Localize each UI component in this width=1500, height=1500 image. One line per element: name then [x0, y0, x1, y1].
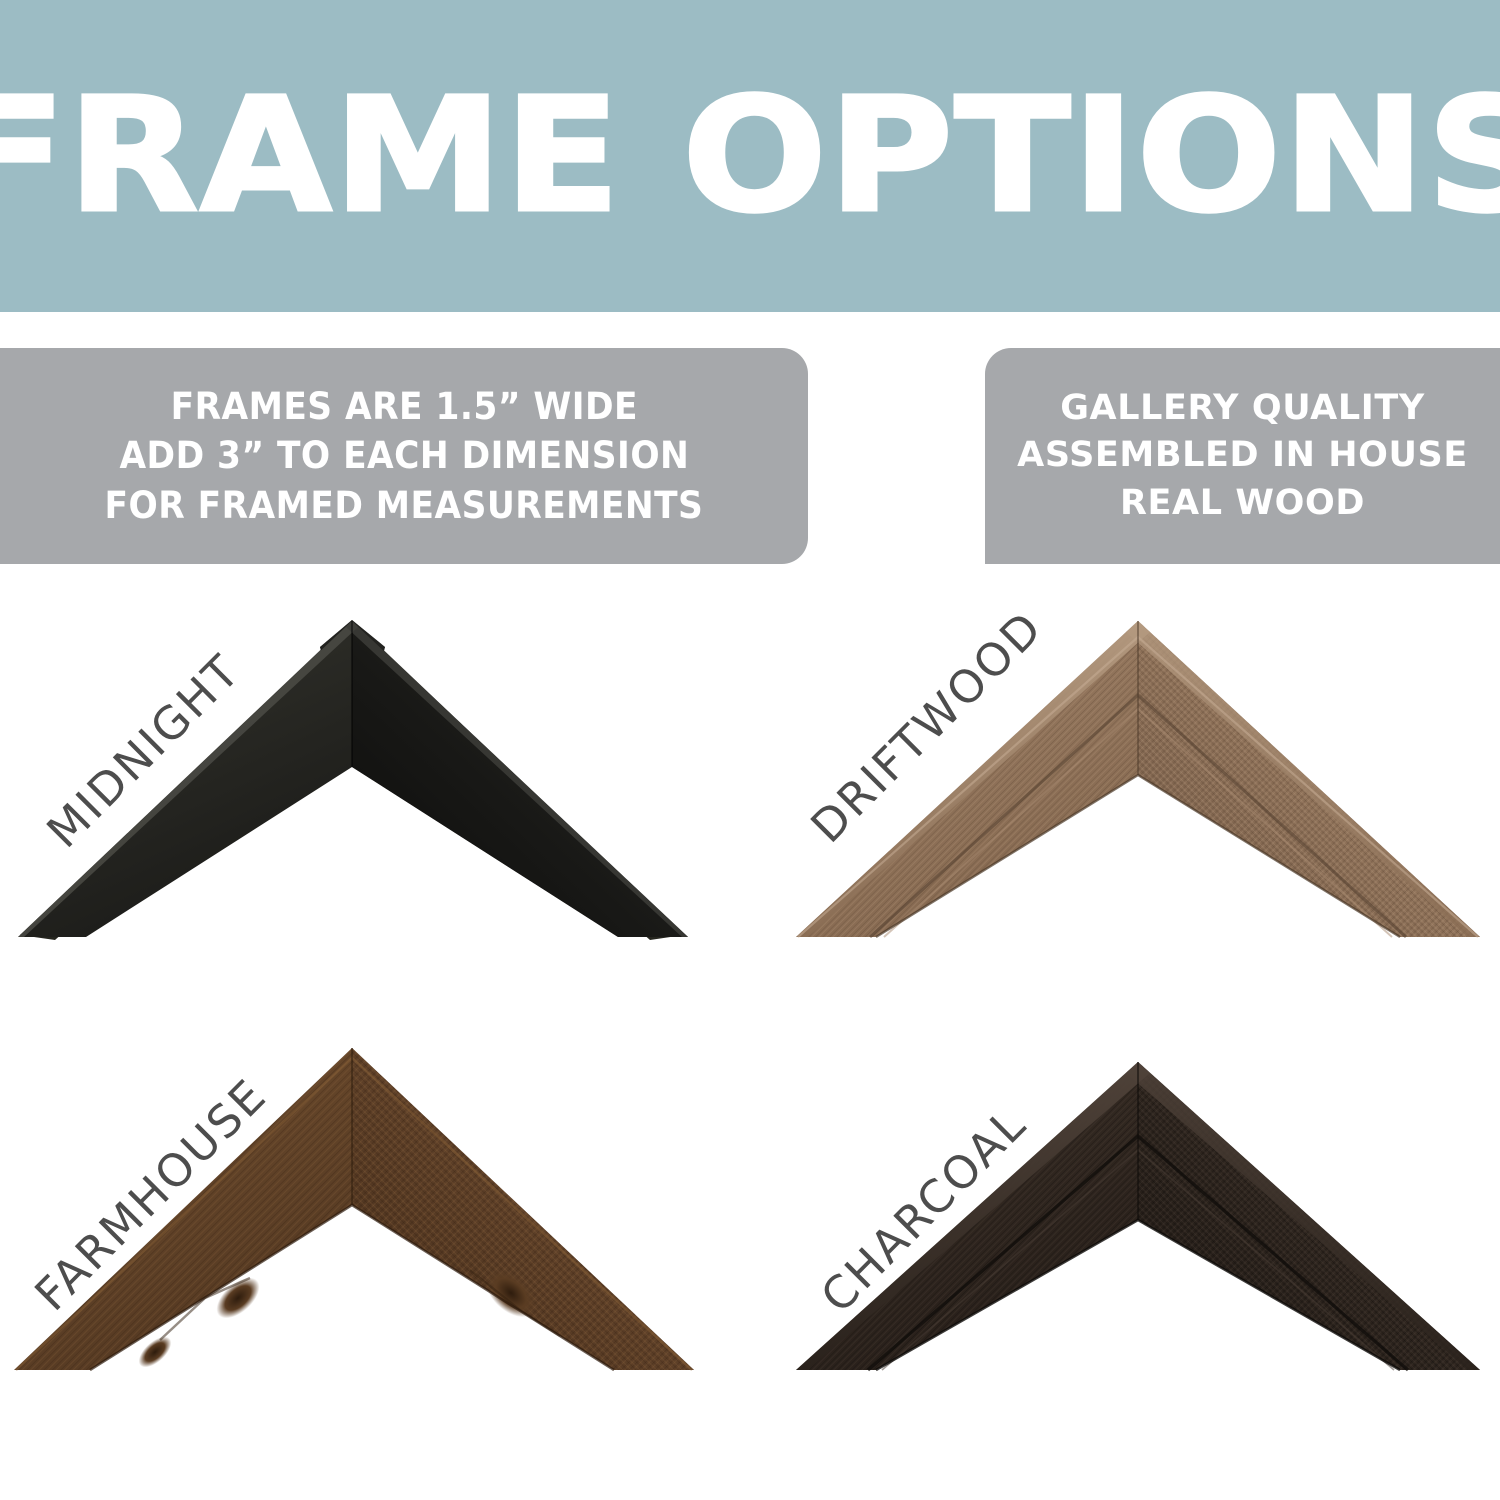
- measurement-info-badge: FRAMES ARE 1.5” WIDE ADD 3” TO EACH DIME…: [0, 348, 808, 564]
- frame-options-grid: [0, 585, 1500, 1500]
- badge-left-line-1: FRAMES ARE 1.5” WIDE: [170, 382, 637, 431]
- badge-left-line-3: FOR FRAMED MEASUREMENTS: [105, 481, 704, 530]
- badge-right-line-3: REAL WOOD: [1120, 480, 1365, 528]
- page-title: FRAME OPTIONS: [0, 77, 1500, 235]
- quality-info-badge: GALLERY QUALITY ASSEMBLED IN HOUSE REAL …: [985, 348, 1500, 564]
- badge-right-line-2: ASSEMBLED IN HOUSE: [1017, 432, 1468, 480]
- badge-left-line-2: ADD 3” TO EACH DIMENSION: [119, 431, 689, 480]
- badge-right-line-1: GALLERY QUALITY: [1060, 385, 1425, 433]
- header-banner: FRAME OPTIONS: [0, 0, 1500, 312]
